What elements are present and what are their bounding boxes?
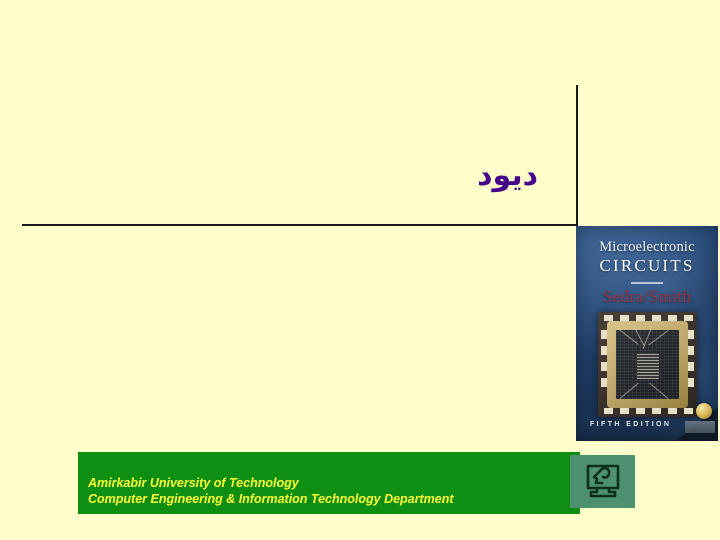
book-title-line2: CIRCUITS bbox=[576, 256, 718, 276]
slide-canvas: دیود Microelectronic CIRCUITS Sedra/Smit… bbox=[0, 0, 720, 540]
ic-bond-pad bbox=[688, 378, 694, 387]
ic-bond-pad bbox=[604, 408, 613, 414]
ic-bond-pad bbox=[652, 408, 661, 414]
ic-die-photo bbox=[598, 312, 697, 417]
book-authors: Sedra/Smith bbox=[576, 287, 718, 307]
book-publisher-label bbox=[685, 421, 715, 433]
vertical-divider-line bbox=[576, 85, 578, 226]
ic-bond-pad bbox=[668, 315, 677, 321]
ic-silicon-die bbox=[616, 330, 679, 399]
footer-department-name: Computer Engineering & Information Techn… bbox=[88, 492, 454, 506]
book-edition-label: FIFTH EDITION bbox=[590, 421, 671, 428]
ic-bond-pad bbox=[601, 378, 607, 387]
ic-bond-pad bbox=[601, 362, 607, 371]
ic-bond-pad bbox=[636, 315, 645, 321]
ic-bond-pad bbox=[688, 346, 694, 355]
ic-bond-pad bbox=[684, 315, 693, 321]
ic-bond-pad bbox=[652, 315, 661, 321]
ic-bond-pad bbox=[620, 408, 629, 414]
ic-bond-pad bbox=[688, 362, 694, 371]
ic-core-block bbox=[637, 353, 659, 379]
ic-bond-pad bbox=[601, 346, 607, 355]
book-title-line1: Microelectronic bbox=[576, 239, 718, 256]
ic-bond-pad bbox=[601, 330, 607, 339]
footer-bar: Amirkabir University of Technology Compu… bbox=[78, 452, 580, 514]
computer-monitor-with-face-icon bbox=[579, 461, 627, 503]
ic-bond-pad bbox=[688, 330, 694, 339]
textbook-cover-image: Microelectronic CIRCUITS Sedra/Smith bbox=[576, 226, 718, 441]
ic-bond-pad bbox=[620, 315, 629, 321]
ic-bond-pad bbox=[636, 408, 645, 414]
horizontal-divider-line bbox=[22, 224, 576, 226]
footer-university-name: Amirkabir University of Technology bbox=[88, 476, 299, 490]
ic-bond-pad bbox=[604, 315, 613, 321]
book-seal-badge-icon bbox=[696, 403, 712, 419]
book-title-rule bbox=[631, 282, 663, 284]
ceit-department-logo bbox=[570, 455, 635, 508]
page-title: دیود bbox=[477, 159, 538, 192]
slide-title-area: دیود bbox=[180, 140, 560, 210]
